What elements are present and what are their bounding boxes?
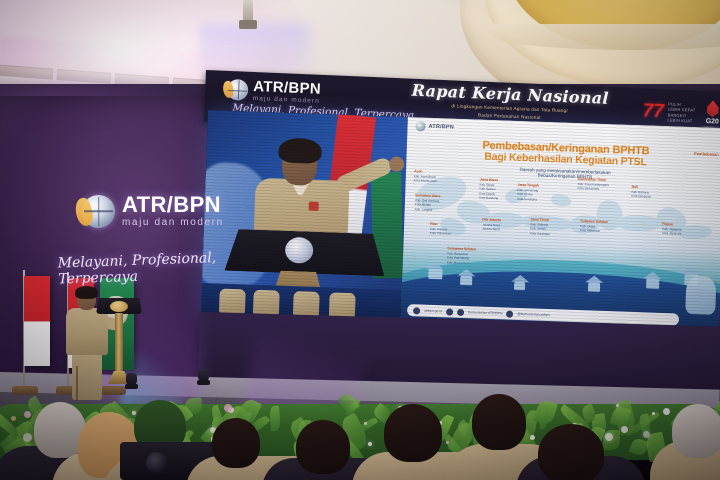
moving-head-base-2 xyxy=(125,384,138,389)
map-region-items: Kab. Kutai KartanegaraKota Samarinda xyxy=(577,182,608,192)
social-handle: Kementerian ATR/BPN xyxy=(468,310,503,315)
audience-head-grey-2 xyxy=(672,404,720,458)
map-region-name: Jawa Tengah xyxy=(518,183,539,188)
map-island xyxy=(550,193,571,208)
map-region-item: Kota Banda Aceh xyxy=(414,179,437,184)
banner-globe-icon xyxy=(227,79,249,101)
map-region-group: DKI JakartaJakarta TimurJakarta Barat xyxy=(482,218,501,232)
flower-bloom xyxy=(663,408,670,415)
podium-column xyxy=(115,313,123,373)
map-region-group: Jawa BaratKab. BogorKab. BekasiKota Depo… xyxy=(479,178,499,201)
map-region-name: Papua xyxy=(662,222,681,227)
map-region-item: Kota Pekanbaru xyxy=(430,231,452,236)
audience-head-dark-2 xyxy=(296,420,350,474)
map-region-name: Bali xyxy=(632,185,652,190)
map-region-name: Riau xyxy=(430,222,452,227)
flower-bloom xyxy=(446,441,449,444)
map-region-items: Kab. BadungKota Denpasar xyxy=(631,190,651,199)
g20-drop-icon xyxy=(705,100,720,118)
backdrop-logo: ATR/BPN maju dan modern xyxy=(82,188,232,234)
moving-head-light-2 xyxy=(124,372,139,389)
house-icon xyxy=(588,281,600,291)
banner-brand-name: ATR/BPN xyxy=(253,79,321,97)
stage-speaker-hair xyxy=(75,286,98,299)
flower-bloom xyxy=(24,411,31,418)
flower-bloom xyxy=(11,416,16,421)
flag-base-left xyxy=(12,386,38,395)
map-region-item: Kab. Langkat xyxy=(415,207,440,212)
map-region-items: Jakarta TimurJakarta Barat xyxy=(482,223,501,232)
feed-speaker-hand xyxy=(389,156,405,172)
flower-bloom xyxy=(530,435,535,440)
social-handle: atrbpn.go.id xyxy=(424,309,442,314)
map-region-items: Kab. KamparKota Pekanbaru xyxy=(430,227,452,236)
anniversary-77-logo: 77 PULIH LEBIH CEPAT BANGKIT LEBIH KUAT xyxy=(642,100,696,124)
map-region-group: Sumatera UtaraKab. Deli SerdangKota Meda… xyxy=(415,193,441,212)
stage-speaker-leg-gap xyxy=(76,366,78,400)
flower-bloom xyxy=(616,404,619,407)
flower-bloom xyxy=(364,422,367,425)
flower-bloom xyxy=(224,404,232,412)
map-region-item: Kota Denpasar xyxy=(631,194,651,199)
map-region-items: Kab. Deli SerdangKota MedanKab. Langkat xyxy=(415,198,441,212)
flower-bloom xyxy=(368,442,372,446)
slide-brand: ATR/BPN xyxy=(428,124,454,131)
moving-head-base-1 xyxy=(197,380,210,385)
backdrop-brand-name: ATR/BPN xyxy=(122,194,224,216)
audience-head-dark-4 xyxy=(472,394,526,450)
flower-bloom xyxy=(643,431,650,438)
map-region-name: Jawa Timur xyxy=(530,217,550,222)
map-region-items: Kab. BogorKab. BekasiKota DepokKota Band… xyxy=(479,183,499,201)
backdrop-brand-tagline: maju dan modern xyxy=(122,218,224,228)
slide-illustration-figure xyxy=(685,276,716,315)
banner-logo: ATR/BPN maju dan modern xyxy=(227,78,322,105)
audience-head-dark-3 xyxy=(384,404,442,462)
flower-bloom xyxy=(621,426,628,433)
map-region-item: Kota Bandung xyxy=(479,196,498,201)
map-region-items: Kab. Aceh BesarKota Banda Aceh xyxy=(414,174,437,183)
feed-audience-1 xyxy=(219,289,246,314)
presentation-slide: ATR/BPN Pembebasan/Keringanan BPHTB Bagi… xyxy=(401,117,720,333)
map-island xyxy=(616,215,662,231)
map-region-items: Kab. JayapuraKota Jayapura xyxy=(662,227,682,236)
map-region-group: Kalimantan TimurKab. Kutai KartanegaraKo… xyxy=(577,177,609,192)
website-icon xyxy=(413,307,420,314)
feed-speaker-badge xyxy=(309,202,319,211)
map-island xyxy=(678,224,713,240)
anniversary-text: PULIH LEBIH CEPAT BANGKIT LEBIH KUAT xyxy=(667,101,696,124)
slide-header: ATR/BPN xyxy=(415,121,454,132)
flower-bloom xyxy=(652,412,655,415)
map-region-item: Kota Surabaya xyxy=(530,231,550,236)
conference-photo-scene: ATR/BPN maju dan modern Melayani, Profes… xyxy=(0,0,720,480)
map-region-name: Jawa Barat xyxy=(480,178,499,183)
map-region-items: Kab. SidoarjoKab. GresikKota Surabaya xyxy=(530,222,550,236)
map-region-items: Kab. GowaKota Makassar xyxy=(580,224,608,234)
house-icon xyxy=(460,275,472,285)
map-region-group: RiauKab. KamparKota Pekanbaru xyxy=(430,222,452,236)
map-region-name: Aceh xyxy=(414,169,437,174)
map-region-items: Kab. SemarangKab. KudusKota Surakarta xyxy=(517,188,539,202)
slide-globe-icon xyxy=(415,121,425,131)
camera-lens-icon xyxy=(146,452,168,474)
slide-badge-label: Pembebasan xyxy=(694,151,719,157)
map-region-item: Kota Makassar xyxy=(580,228,608,233)
globe-flame-icon xyxy=(82,195,115,228)
anniversary-number: 77 xyxy=(642,102,664,122)
map-region-group: PapuaKab. JayapuraKota Jayapura xyxy=(662,222,682,236)
map-region-group: Jawa TengahKab. SemarangKab. KudusKota S… xyxy=(517,183,539,202)
audience-head-dark-5 xyxy=(538,424,604,480)
banner-flame-icon xyxy=(222,80,235,99)
map-region-group: AcehKab. Aceh BesarKota Banda Aceh xyxy=(414,169,438,183)
moving-head-light-1 xyxy=(196,368,211,385)
flower-bloom xyxy=(605,433,613,441)
map-region-item: Kota Surakarta xyxy=(517,197,538,202)
flower-bloom xyxy=(23,433,32,442)
facebook-icon xyxy=(446,308,453,315)
flag-indonesia-left xyxy=(24,276,50,366)
ceiling-spotlight-head xyxy=(239,20,257,29)
social-handle: @kementerian.atrbpn xyxy=(517,312,550,317)
anniversary-line-4: LEBIH KUAT xyxy=(667,118,695,125)
feed-speaker-hair xyxy=(278,137,322,163)
map-region-group: Jawa TimurKab. SidoarjoKab. GresikKota S… xyxy=(530,217,550,236)
slide-badge: Pembebasan xyxy=(694,151,719,157)
map-region-group: Sulawesi SelatanKab. GowaKota Makassar xyxy=(580,219,608,234)
house-icon xyxy=(514,281,525,290)
map-region-group: BaliKab. BadungKota Denpasar xyxy=(631,185,651,199)
instagram-icon xyxy=(506,310,513,317)
house-icon xyxy=(646,277,659,288)
audience-head-dark-1 xyxy=(212,418,260,468)
map-region-item: Kota Jayapura xyxy=(662,231,681,236)
map-region-item: Jakarta Barat xyxy=(482,227,501,232)
twitter-icon xyxy=(457,308,464,315)
house-icon xyxy=(428,268,442,279)
podium-emblem-icon xyxy=(110,301,128,312)
map-region-name: DKI Jakarta xyxy=(482,218,501,223)
